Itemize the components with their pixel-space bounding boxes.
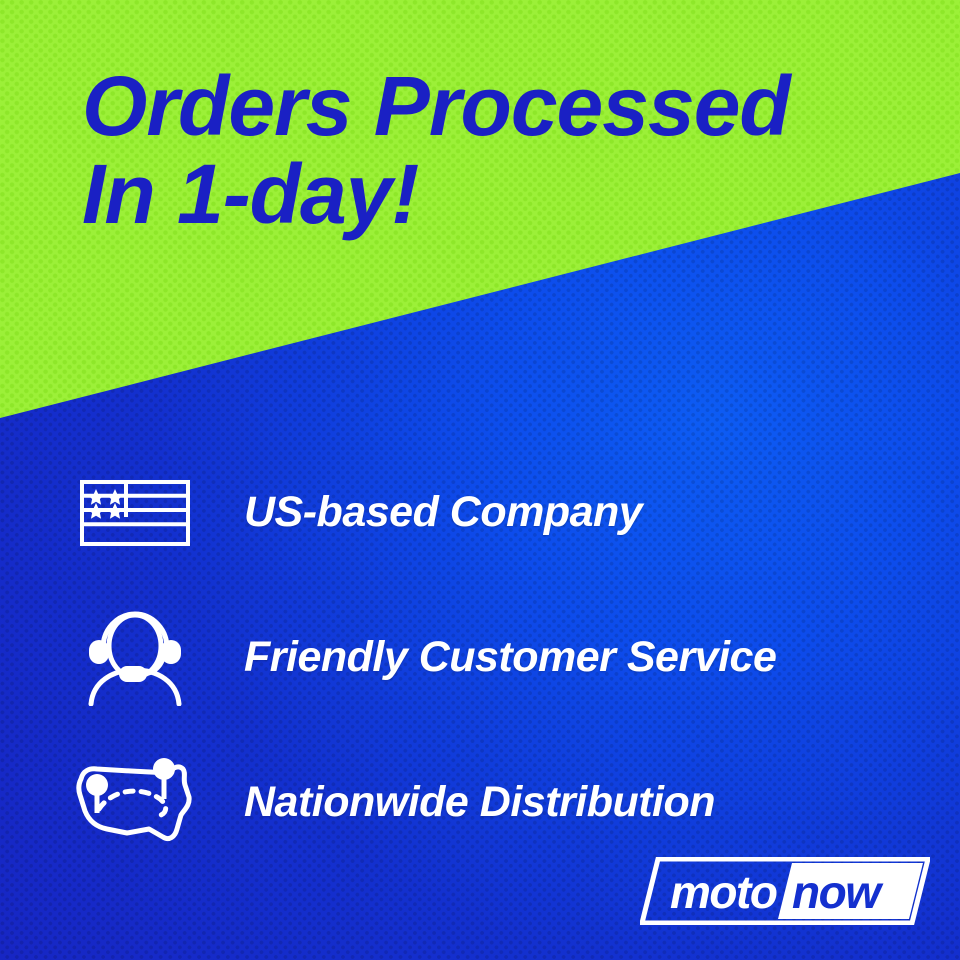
- logo-text-now: now: [792, 866, 884, 918]
- headset-agent-icon: [70, 610, 200, 706]
- promo-banner: Orders Processed In 1-day!: [0, 0, 960, 960]
- feature-row: Friendly Customer Service: [70, 585, 930, 730]
- headline-line-2: In 1-day!: [82, 150, 912, 238]
- headline: Orders Processed In 1-day!: [82, 62, 912, 238]
- us-flag-icon: [70, 479, 200, 547]
- us-map-route-icon: [70, 757, 200, 849]
- headline-line-1: Orders Processed: [82, 62, 912, 150]
- feature-list: US-based Company: [70, 440, 930, 875]
- feature-row: Nationwide Distribution: [70, 730, 930, 875]
- feature-label: US-based Company: [244, 488, 642, 537]
- feature-label: Friendly Customer Service: [244, 633, 776, 682]
- feature-row: US-based Company: [70, 440, 930, 585]
- motonow-logo[interactable]: moto now: [640, 857, 930, 925]
- logo-text-moto: moto: [670, 866, 777, 918]
- feature-label: Nationwide Distribution: [244, 778, 715, 827]
